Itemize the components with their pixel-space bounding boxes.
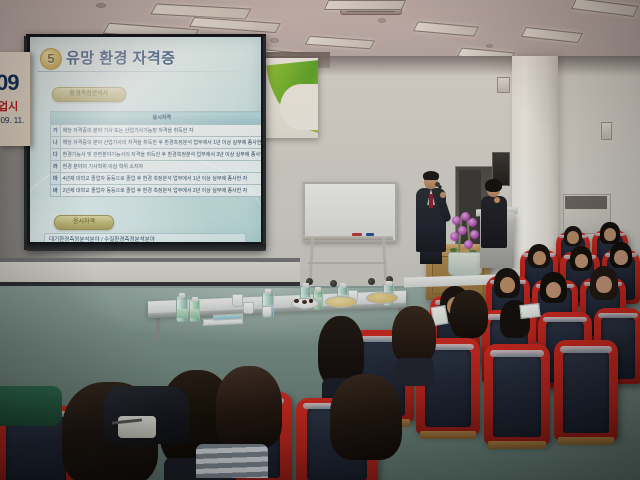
snack-item xyxy=(294,299,299,303)
orchid-flower xyxy=(450,232,459,241)
orchid-flower xyxy=(470,230,479,239)
snack-item xyxy=(309,299,313,303)
slide-table-row: 나 해당 자격증의 분야 산업기사의 자격을 취득한 후 환경측정분석 업무에서… xyxy=(51,137,262,149)
banner-left-red-text: 업시 xyxy=(0,98,18,114)
presenter-hand xyxy=(440,192,446,198)
slide-table-header-row: 응시자격 xyxy=(51,112,262,125)
slide-footer-text: 대기환경측정분석분야 / 수질환경측정분석분야 xyxy=(44,233,246,242)
row-text: 4년제 대학교 졸업자 동등으로 졸업 후 환경 측정분석 업무에서 1년 이상… xyxy=(60,173,261,185)
ceiling-fitting-icon xyxy=(270,38,279,43)
paper-cup xyxy=(243,302,254,314)
wall-fixture-icon xyxy=(601,122,612,140)
held-handout xyxy=(519,303,540,319)
microphone-head-icon xyxy=(435,182,440,187)
slide-table-row: 마 4년제 대학교 졸업자 동등으로 졸업 후 환경 측정분석 업무에서 1년 … xyxy=(51,173,262,185)
banner-left-year: 09 xyxy=(0,70,18,96)
ceiling-fitting-icon xyxy=(378,18,386,23)
whiteboard-wheel-icon xyxy=(368,278,375,285)
row-text: 환경 분야의 기사학위 이상 학위 소지자 xyxy=(60,161,261,173)
row-label: 나 xyxy=(51,137,61,149)
lectern-person-body xyxy=(481,196,507,248)
slide-table-row: 라 환경 분야의 기사학위 이상 학위 소지자 xyxy=(51,161,262,173)
orchid-pot xyxy=(448,252,482,276)
whiteboard-crossbar xyxy=(308,262,386,264)
presenter-tie xyxy=(429,194,433,208)
ceiling-fitting-icon xyxy=(486,44,493,48)
orchid-flower xyxy=(468,218,477,227)
whiteboard-marker-icon xyxy=(352,233,362,236)
row-text: 2년제 대학교 졸업자 동등으로 졸업 후 환경 측정분석 업무에서 2년 이상… xyxy=(60,185,261,197)
event-banner-left: 09 업시 009. 11. xyxy=(0,52,31,146)
paper-cup xyxy=(262,306,272,317)
slide-number-badge: 5 xyxy=(40,48,62,70)
paper-cup xyxy=(232,294,243,307)
row-label: 가 xyxy=(51,125,61,137)
whiteboard-wheel-icon xyxy=(330,280,337,287)
ceiling-light-fixture xyxy=(324,0,406,10)
row-text: 해당 자격증의 분야 산업기사의 자격을 취득한 후 환경측정분석 업무에서 1… xyxy=(60,137,261,149)
ceiling-fitting-icon xyxy=(96,3,106,8)
presenter-hair xyxy=(423,171,439,180)
slide-table: 응시자격 가 해당 자격증의 분야 기사 또는 산업기사기능장 자격을 취득한 … xyxy=(50,111,261,197)
snack-item xyxy=(302,300,307,304)
snack-plate xyxy=(366,292,398,304)
row-text: 환경기능사 및 관련분야기능사의 자격을 취득한 후 환경측정분석 업무에서 3… xyxy=(60,149,261,161)
row-label: 바 xyxy=(51,185,61,197)
row-label: 다 xyxy=(51,149,61,161)
orchid-flower xyxy=(458,226,467,235)
slide-table-row: 다 환경기능사 및 관련분야기능사의 자격을 취득한 후 환경측정분석 업무에서… xyxy=(51,149,262,161)
slide-table-row: 가 해당 자격증의 분야 기사 또는 산업기사기능장 자격을 취득한 자 xyxy=(51,125,262,137)
wall-trim xyxy=(0,258,300,262)
slide-pill-top: 환경측정분석사 xyxy=(52,87,126,102)
screen-arm-right xyxy=(263,36,266,250)
auditorium-seat xyxy=(554,340,618,440)
snack-plate xyxy=(325,296,357,308)
row-label: 라 xyxy=(51,161,61,173)
whiteboard-marker-tray xyxy=(303,236,393,240)
slide-table-header-cell: 응시자격 xyxy=(51,112,262,125)
photo-scene: 수회 전략토론 환경공학과 5 유망 환경 자격증 환경측정분석사 응시자격 가… xyxy=(0,0,640,480)
banner-left-date: 009. 11. xyxy=(0,116,24,125)
slide-pill-bottom: 응시자격 xyxy=(54,215,114,230)
orchid-flower xyxy=(464,240,473,249)
slide-table-row: 바 2년제 대학교 졸업자 동등으로 졸업 후 환경 측정분석 업무에서 2년 … xyxy=(51,185,262,197)
row-text: 해당 자격증의 분야 기사 또는 산업기사기능장 자격을 취득한 자 xyxy=(60,125,261,137)
slide-title: 유망 환경 자격증 xyxy=(66,47,175,68)
auditorium-seat xyxy=(484,344,550,444)
slide-title-underline xyxy=(38,71,252,72)
whiteboard xyxy=(303,182,397,242)
row-label: 마 xyxy=(51,173,61,185)
water-bottle xyxy=(176,296,188,322)
wall-fixture-icon xyxy=(497,77,510,93)
wall-panel-recess xyxy=(565,196,607,209)
banner-swoosh-inner xyxy=(280,84,318,130)
screen-bottom-bar xyxy=(26,244,266,251)
presenter-legs xyxy=(420,250,442,264)
green-seat-back xyxy=(0,386,62,426)
water-bottle xyxy=(189,300,200,322)
lectern-person-hair xyxy=(485,179,502,192)
projection-screen: 5 유망 환경 자격증 환경측정분석사 응시자격 가 해당 자격증의 분야 기사… xyxy=(30,37,261,242)
whiteboard-marker-icon xyxy=(366,233,374,236)
lectern-person-hand xyxy=(494,197,500,203)
orchid-flower xyxy=(452,216,461,225)
